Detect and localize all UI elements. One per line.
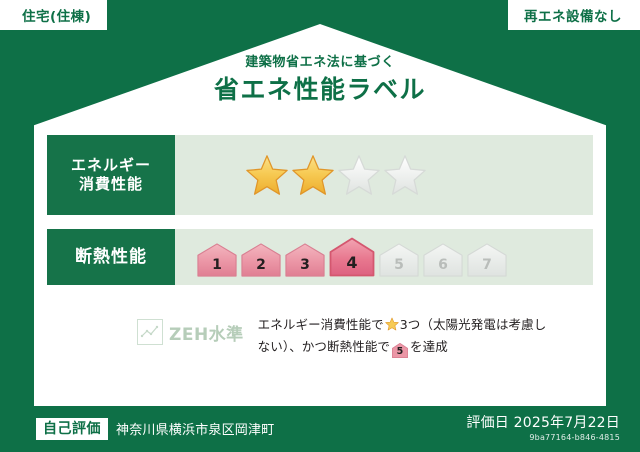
energy-performance-label: 住宅(住棟) 再エネ設備なし 建築物省エネ法に基づく 省エネ性能ラベル エネルギ… [0,0,640,452]
inline-level-badge: 5 [392,343,408,358]
zeh-desc-part3: を達成 [410,339,448,354]
row-energy-performance: エネルギー 消費性能 [47,135,593,215]
page-title: 省エネ性能ラベル [0,74,640,105]
insulation-house-label-4: 4 [346,253,357,277]
insulation-house-5: 5 [379,243,419,277]
evaluation-date: 評価日 2025年7月22日 [466,415,620,431]
title-block: 建築物省エネ法に基づく 省エネ性能ラベル [0,56,640,106]
self-evaluation-badge: 自己評価 [36,418,108,441]
insulation-house-3: 3 [285,243,325,277]
insulation-house-2: 2 [241,243,281,277]
insulation-house-4-current: 4 [329,237,375,277]
insulation-house-1: 1 [197,243,237,277]
title-subtitle: 建築物省エネ法に基づく [0,56,640,70]
insulation-house-7: 7 [467,243,507,277]
insulation-house-label-3: 3 [300,257,310,277]
row-energy-head-line1: エネルギー [71,156,151,176]
zeh-chart-icon [137,319,163,345]
star-icon-empty-4 [383,154,427,196]
insulation-house-label-5: 5 [394,257,404,277]
property-address: 神奈川県横浜市泉区岡津町 [116,419,274,438]
row-energy-body [175,135,593,215]
tag-renewable-equipment: 再エネ設備なし [508,0,640,30]
inline-level-label: 5 [392,343,408,360]
footer-right: 評価日 2025年7月22日 9ba77164-b846-4815 [466,415,620,442]
zeh-description: エネルギー消費性能で 3つ（太陽光発電は考慮しない）、かつ断熱性能で 5 を達成 [258,314,548,358]
zeh-desc-part1: エネルギー消費性能で [258,317,384,332]
energy-star-rating [245,154,427,196]
row-insulation-body: 1 2 3 4 [175,229,593,285]
insulation-house-label-2: 2 [256,257,266,277]
insulation-house-label-1: 1 [212,257,222,277]
row-energy-head: エネルギー 消費性能 [47,135,175,215]
row-insulation-performance: 断熱性能 [47,229,593,285]
star-icon-filled-1 [245,154,289,196]
insulation-house-label-6: 6 [438,257,448,277]
inline-star-icon [385,317,399,331]
star-icon-filled-2 [291,154,335,196]
label-footer: 自己評価 神奈川県横浜市泉区岡津町 評価日 2025年7月22日 9ba7716… [0,406,640,452]
row-insulation-head: 断熱性能 [47,229,175,285]
insulation-house-6: 6 [423,243,463,277]
footer-left: 自己評価 神奈川県横浜市泉区岡津町 [36,418,274,441]
tag-building-type: 住宅(住棟) [0,0,107,30]
star-icon-empty-3 [337,154,381,196]
evaluation-id: 9ba77164-b846-4815 [466,433,620,442]
row-energy-head-line2: 消費性能 [79,175,143,195]
zeh-section: ZEH水準 エネルギー消費性能で 3つ（太陽光発電は考慮しない）、かつ断熱性能で… [47,314,593,358]
insulation-level-scale: 1 2 3 4 [197,237,507,277]
zeh-badge: ZEH水準 [137,319,244,345]
zeh-label: ZEH水準 [169,320,244,345]
insulation-house-label-7: 7 [482,257,492,277]
